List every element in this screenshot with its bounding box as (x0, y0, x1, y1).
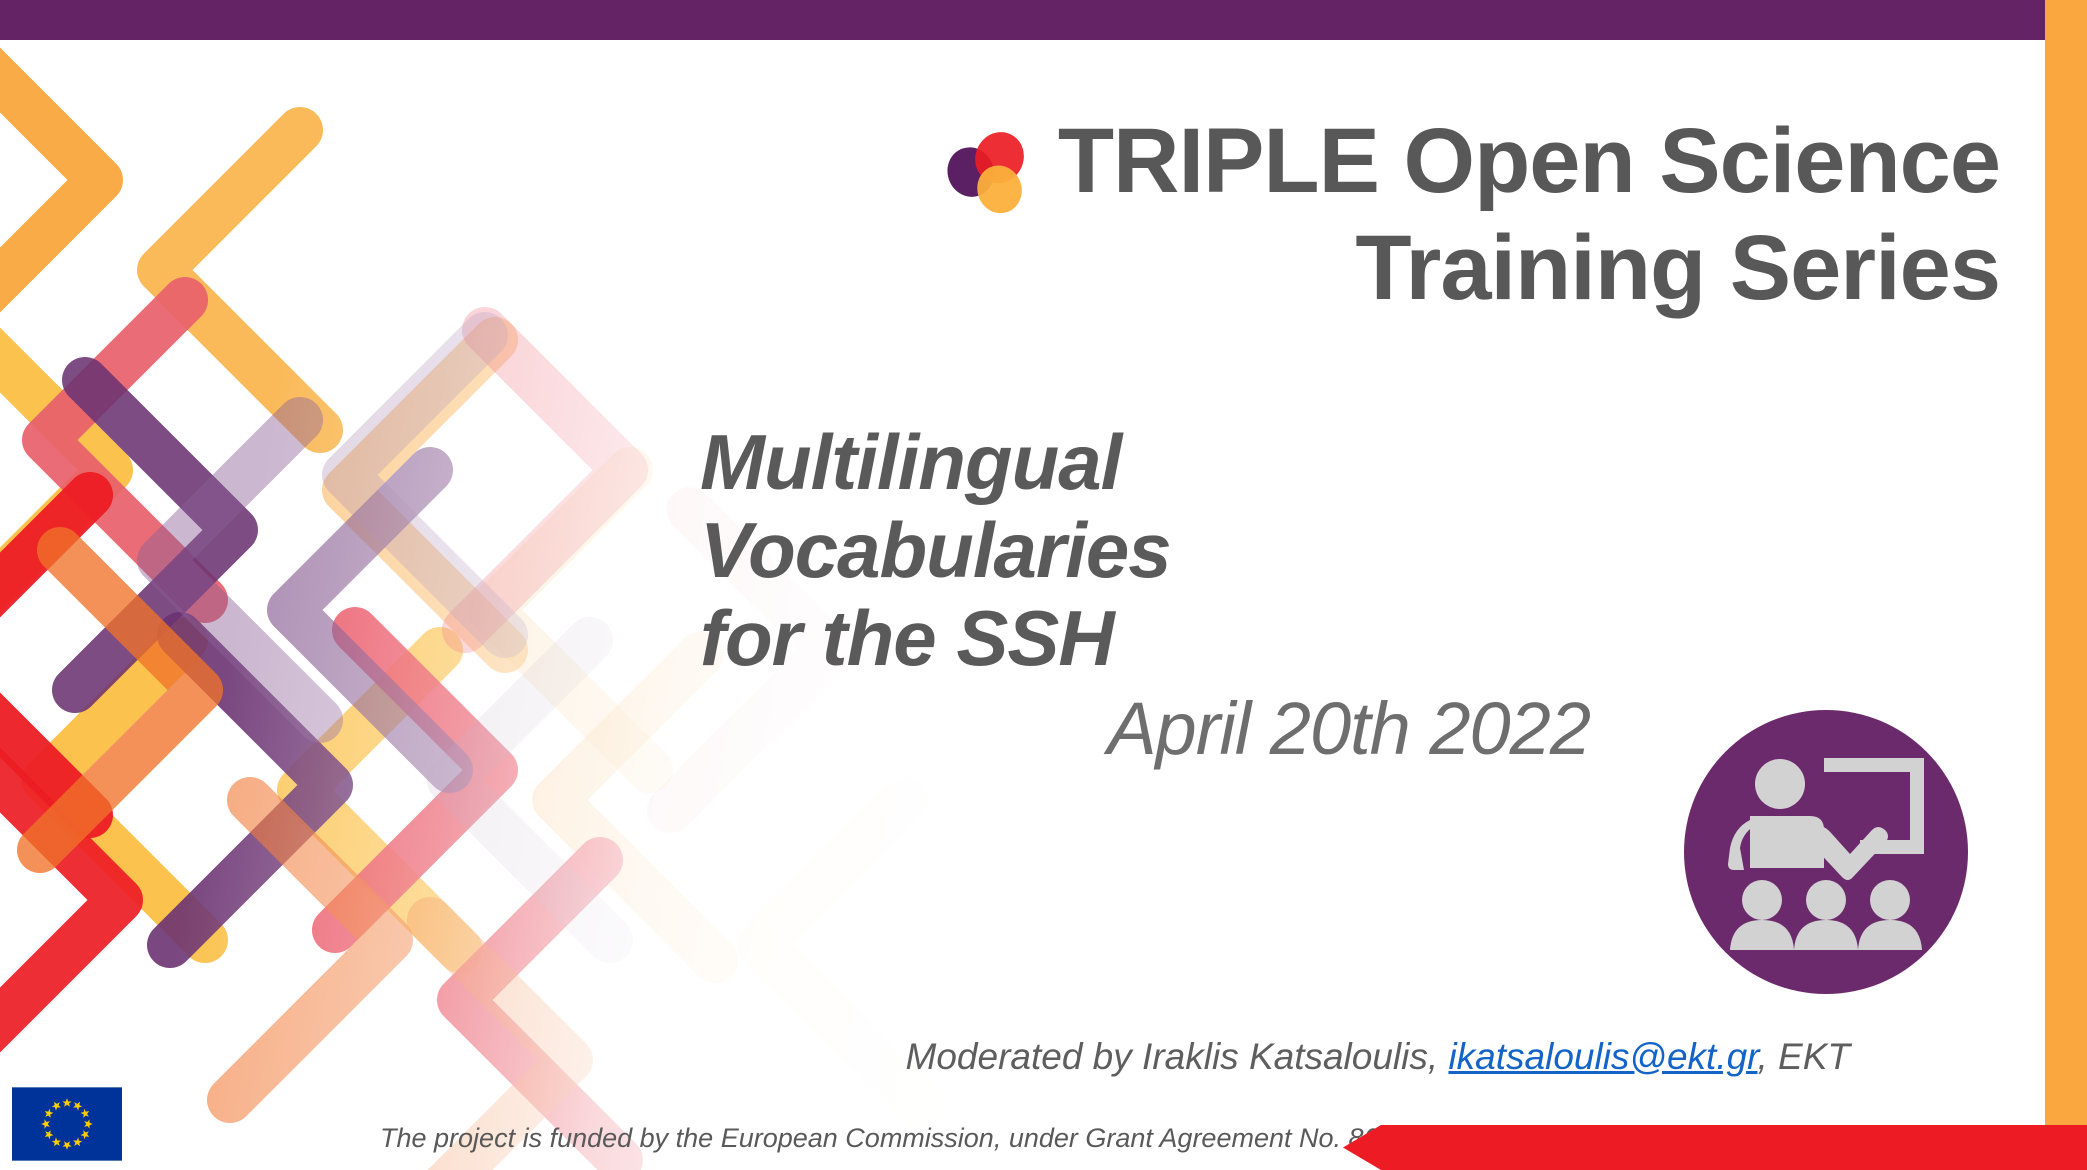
triple-pinwheel-logo-icon (940, 126, 1036, 222)
brand-title-line2: Training Series (1058, 215, 2000, 322)
moderator-line: Moderated by Iraklis Katsaloulis, ikatsa… (600, 1036, 1850, 1078)
moderator-suffix: , EKT (1757, 1036, 1850, 1077)
session-date: April 20th 2022 (700, 686, 1590, 771)
session-title-block: Multilingual Vocabularies for the SSH Ap… (700, 418, 1590, 771)
brand-title: TRIPLE Open Science Training Series (1058, 108, 2000, 321)
slide-canvas: TRIPLE Open Science Training Series Mult… (0, 0, 2087, 1170)
training-presentation-icon (1682, 708, 1970, 996)
funding-note: The project is funded by the European Co… (380, 1123, 1439, 1154)
right-orange-bar (2045, 0, 2087, 1127)
moderator-prefix: Moderated by Iraklis Katsaloulis, (906, 1036, 1449, 1077)
european-union-flag-icon (12, 1087, 122, 1161)
session-title-line2: Vocabularies (700, 506, 1590, 594)
top-purple-bar (0, 0, 2045, 40)
session-title: Multilingual Vocabularies for the SSH (700, 418, 1590, 682)
session-title-line1: Multilingual (700, 418, 1590, 506)
brand-header: TRIPLE Open Science Training Series (770, 108, 2000, 321)
brand-title-line1: TRIPLE Open Science (1058, 108, 2000, 215)
session-title-line3: for the SSH (700, 594, 1590, 682)
moderator-email-link[interactable]: ikatsaloulis@ekt.gr (1448, 1036, 1757, 1077)
